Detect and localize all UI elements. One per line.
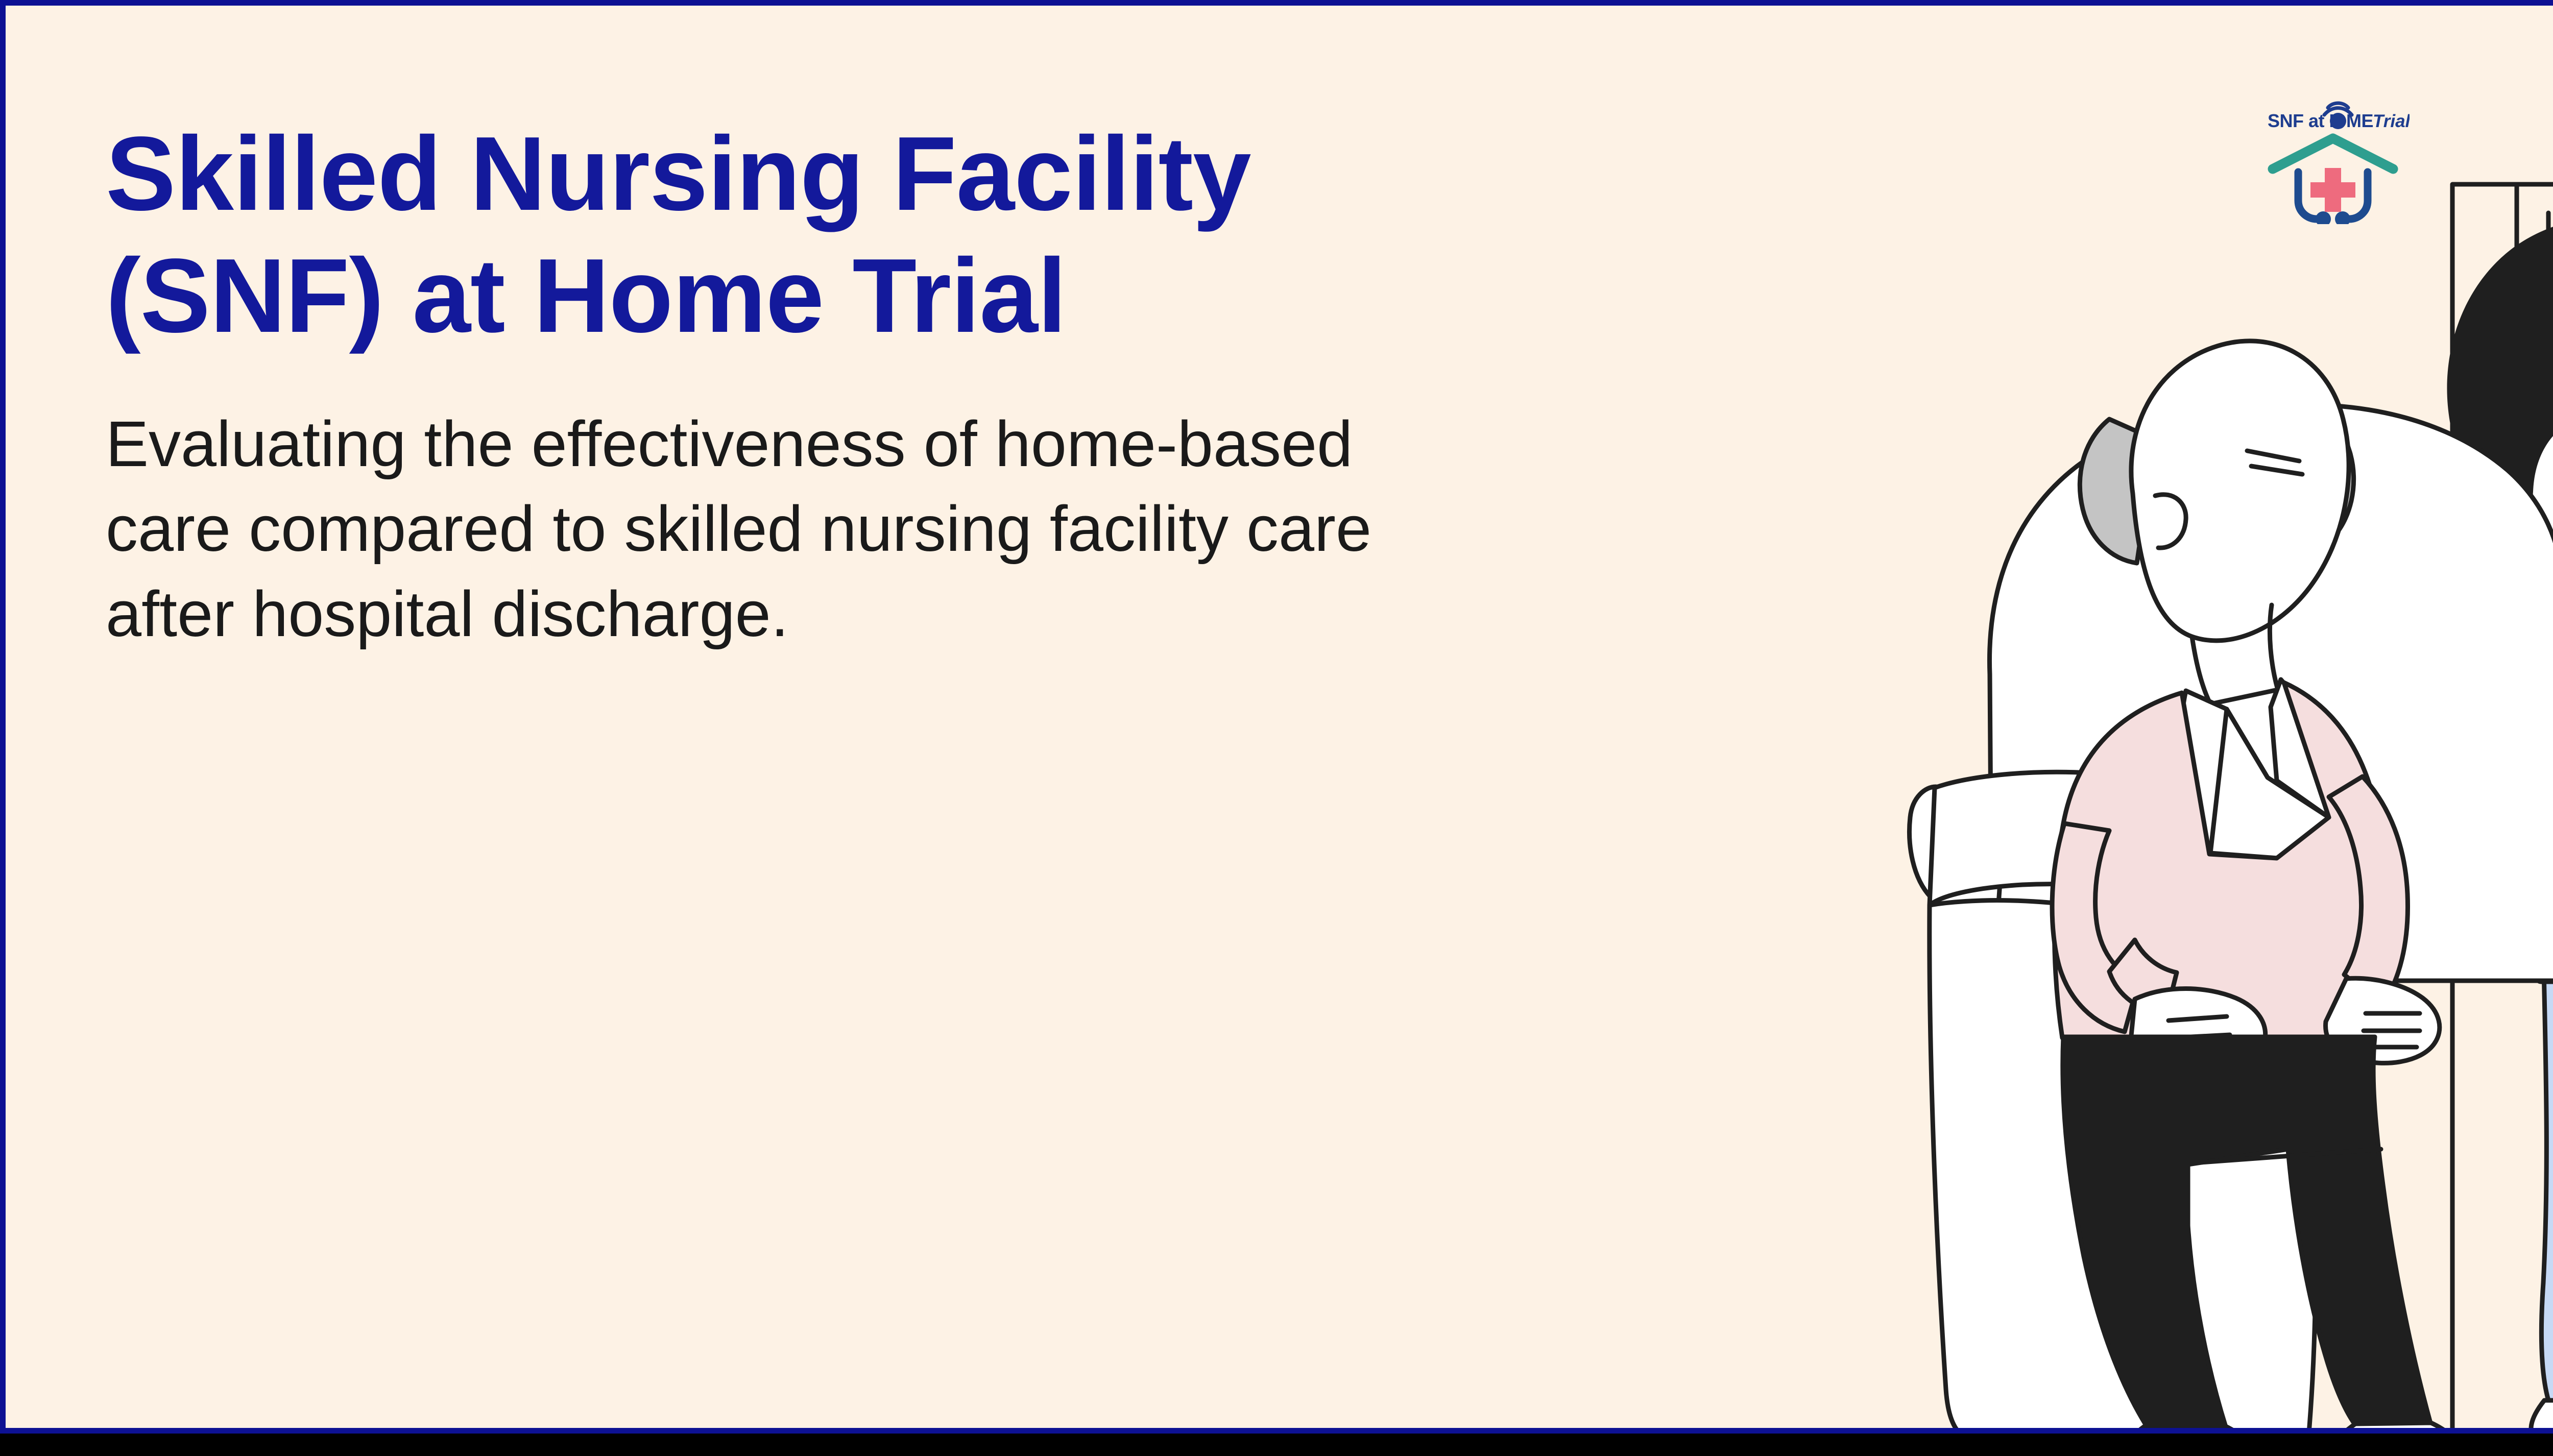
page-title: Skilled Nursing Facility (SNF) at Home T… xyxy=(106,113,1586,357)
banner-canvas: SNF at H ME Trial Skilled Nursing Facili… xyxy=(0,0,2553,1434)
hero-illustration xyxy=(1869,82,2553,1434)
logo-medical-cross-icon xyxy=(2310,168,2355,212)
page-subtitle: Evaluating the effectiveness of home-bas… xyxy=(106,402,1586,657)
bottom-black-bar xyxy=(0,1434,2553,1456)
banner-root: SNF at H ME Trial Skilled Nursing Facili… xyxy=(0,0,2553,1456)
logo-wordmark-trial: Trial xyxy=(2373,111,2410,131)
logo-roof xyxy=(2273,138,2393,169)
logo-o-dot xyxy=(2330,113,2346,129)
logo-earpiece-left xyxy=(2316,211,2331,224)
snf-at-home-trial-logo: SNF at H ME Trial xyxy=(2256,91,2410,224)
logo-wordmark-suffix: ME xyxy=(2346,110,2373,131)
text-column: Skilled Nursing Facility (SNF) at Home T… xyxy=(106,113,1586,657)
logo-earpiece-right xyxy=(2335,211,2350,224)
